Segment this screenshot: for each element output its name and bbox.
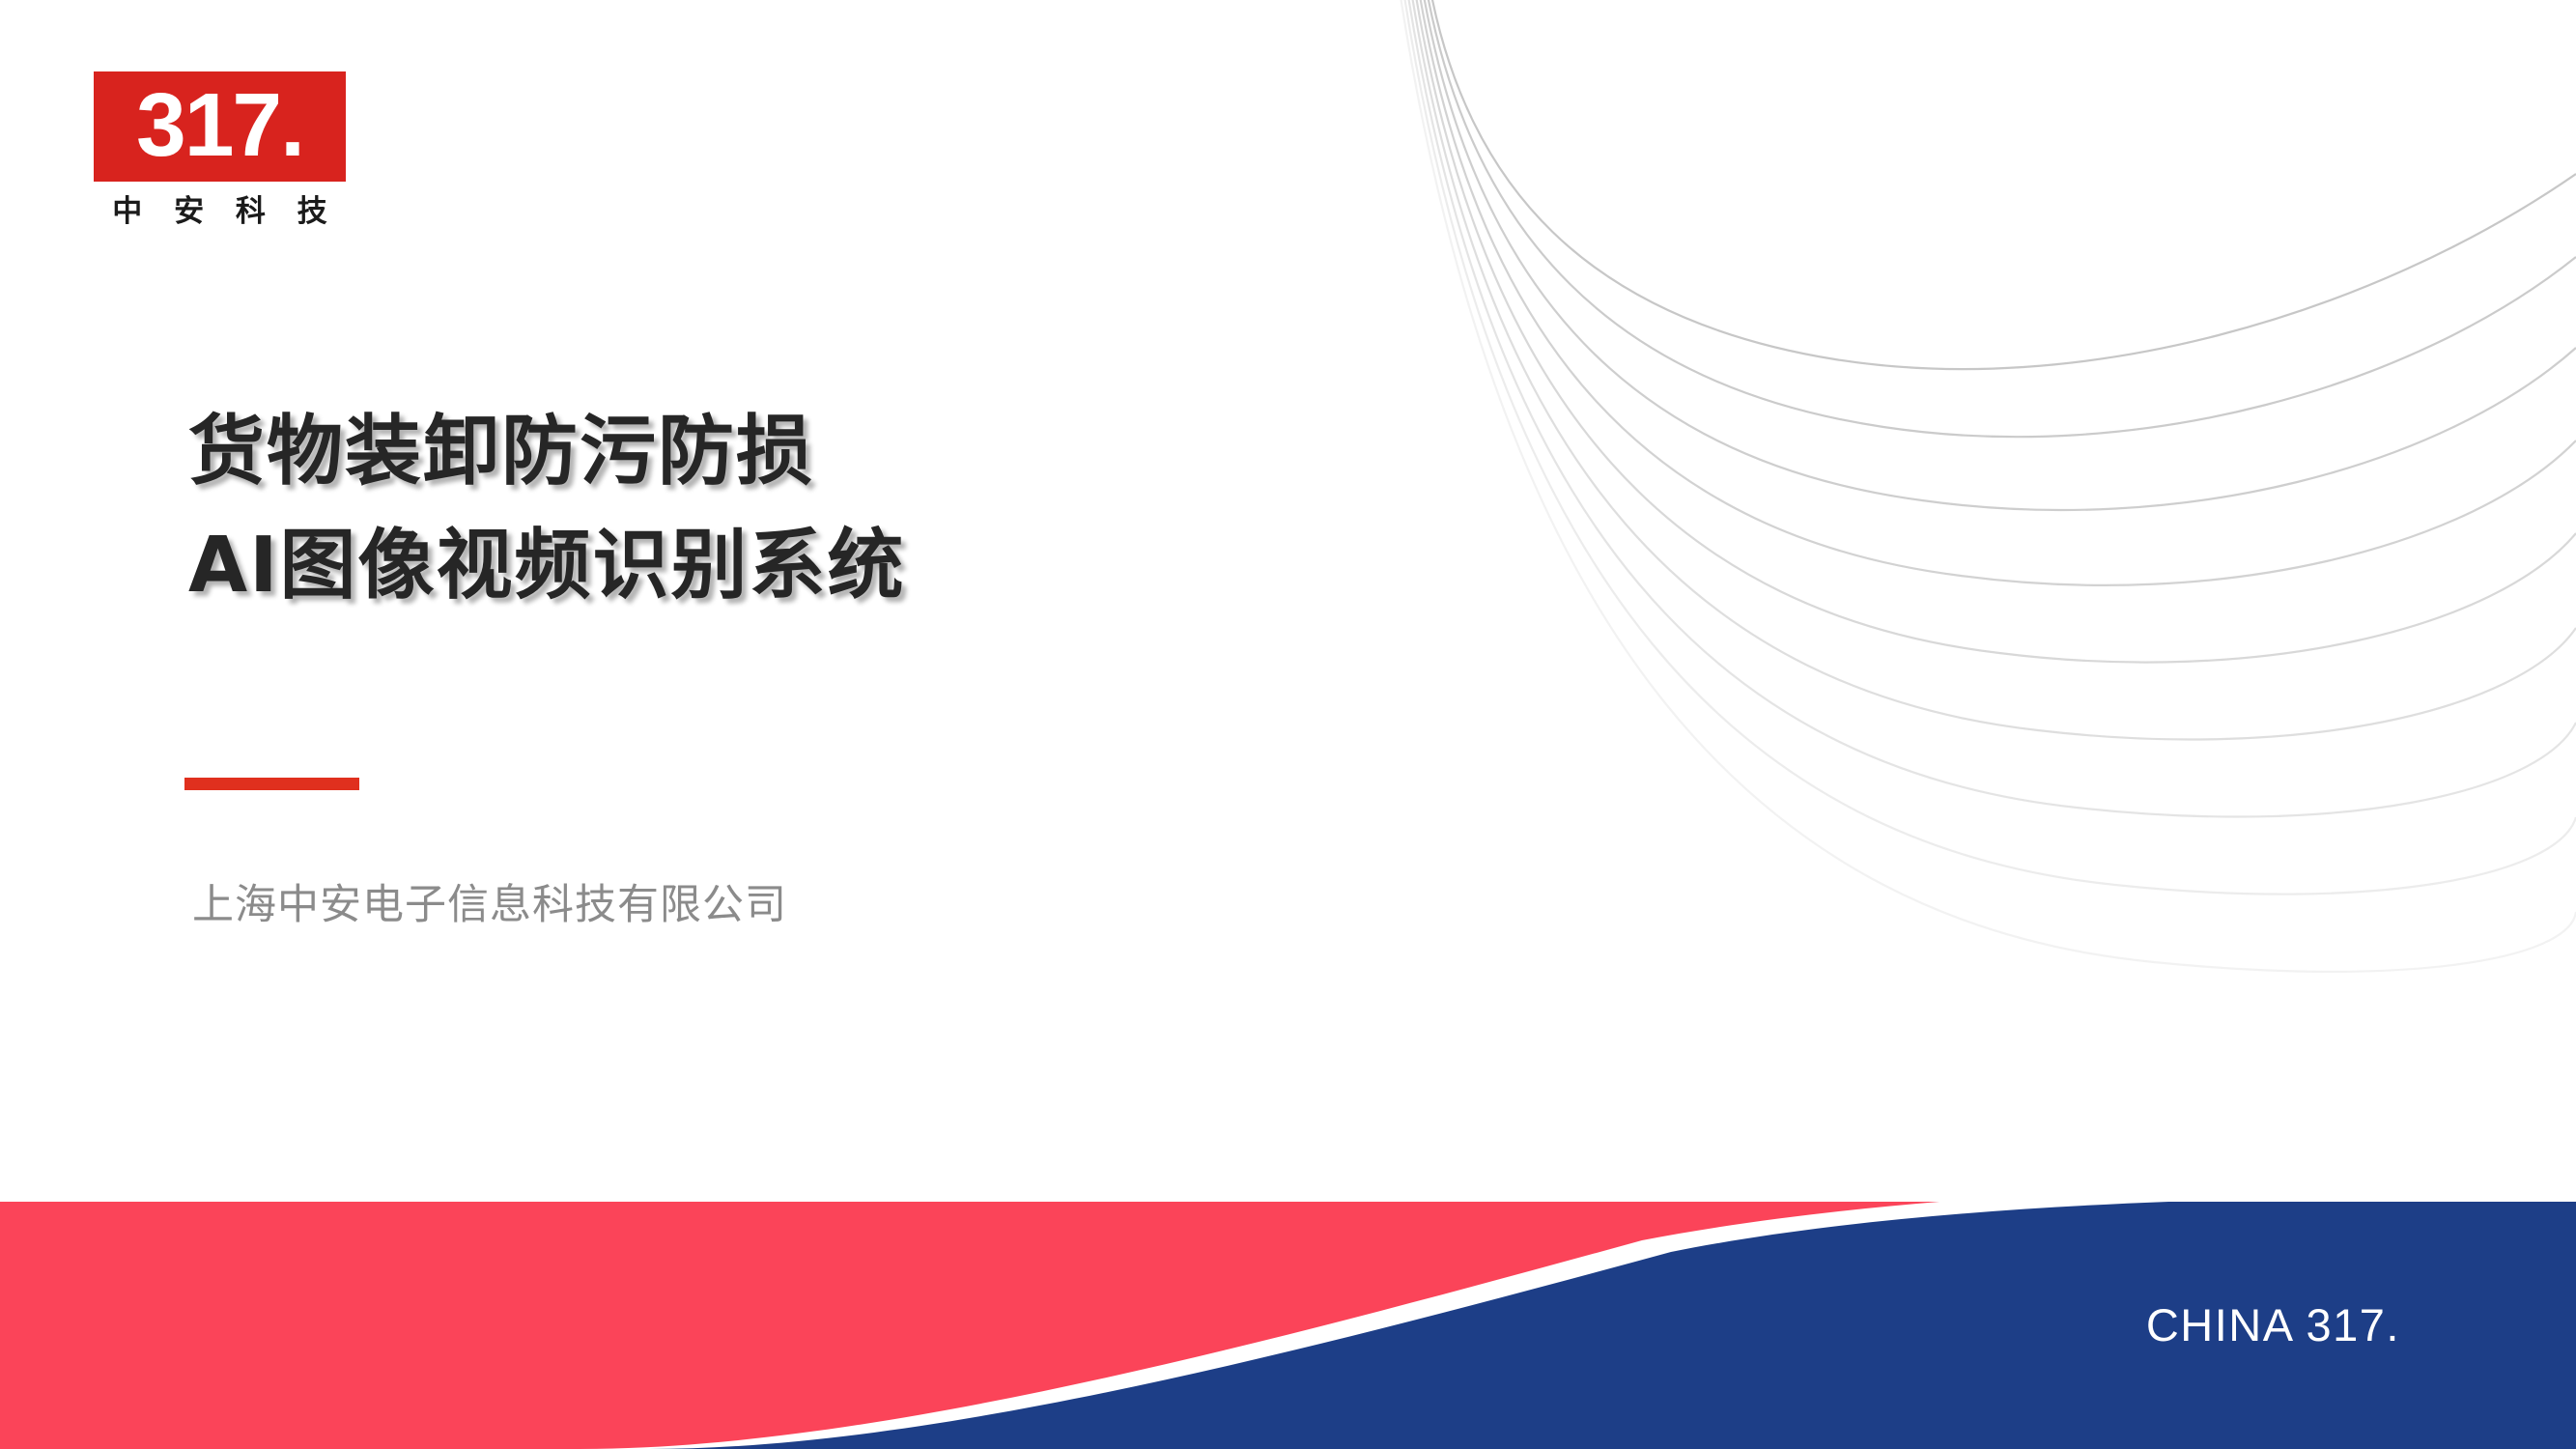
logo-mark-text: 317. <box>136 80 303 174</box>
company-name-subtitle: 上海中安电子信息科技有限公司 <box>192 877 787 933</box>
logo-mark-317: 317. <box>94 71 346 182</box>
page-title-line-2: AI图像视频识别系统 <box>188 508 1541 622</box>
title-divider <box>184 778 359 790</box>
logo: 317. 中 安 科 技 <box>94 71 364 228</box>
slide-canvas: 317. 中 安 科 技 货物装卸防污防损 AI图像视频识别系统 上海中安电子信… <box>0 0 2576 1449</box>
banner-label: CHINA 317. <box>2146 1300 2400 1350</box>
logo-company-short: 中 安 科 技 <box>94 195 346 228</box>
page-title-line-1: 货物装卸防污防损 <box>188 394 1541 508</box>
bottom-banner: CHINA 317. <box>0 1202 2576 1449</box>
page-title: 货物装卸防污防损 AI图像视频识别系统 <box>188 394 1541 622</box>
